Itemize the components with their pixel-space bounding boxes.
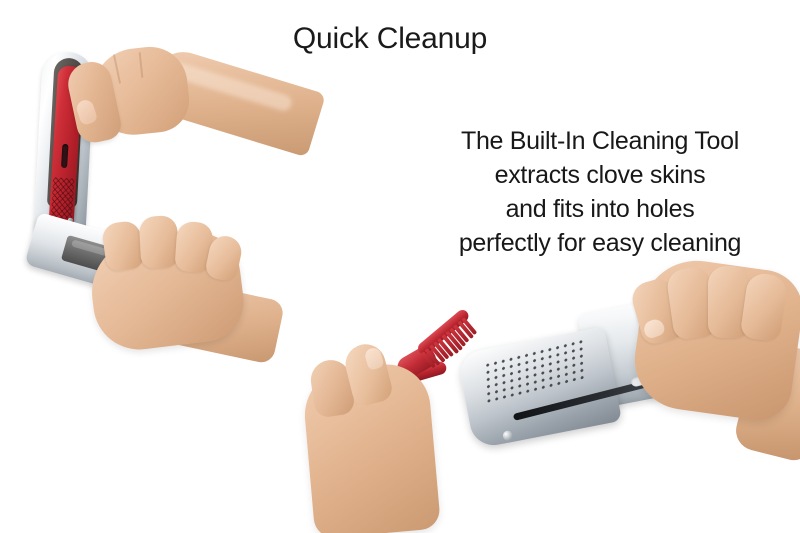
description-line-3: and fits into holes: [400, 192, 800, 226]
gripping-finger: [101, 220, 145, 273]
product-photo-tool-removal: [0, 40, 300, 310]
perforated-holes: [484, 337, 586, 403]
description-line-1: The Built-In Cleaning Tool: [400, 124, 800, 158]
product-feature-panel: Quick Cleanup The Built-In Cleaning Tool…: [0, 0, 800, 533]
product-photo-tool-insertion: [352, 262, 800, 533]
description-line-4: perfectly for easy cleaning: [400, 226, 800, 260]
gripping-finger: [139, 215, 180, 269]
description-line-2: extracts clove skins: [400, 158, 800, 192]
feature-description: The Built-In Cleaning Tool extracts clov…: [400, 124, 800, 260]
